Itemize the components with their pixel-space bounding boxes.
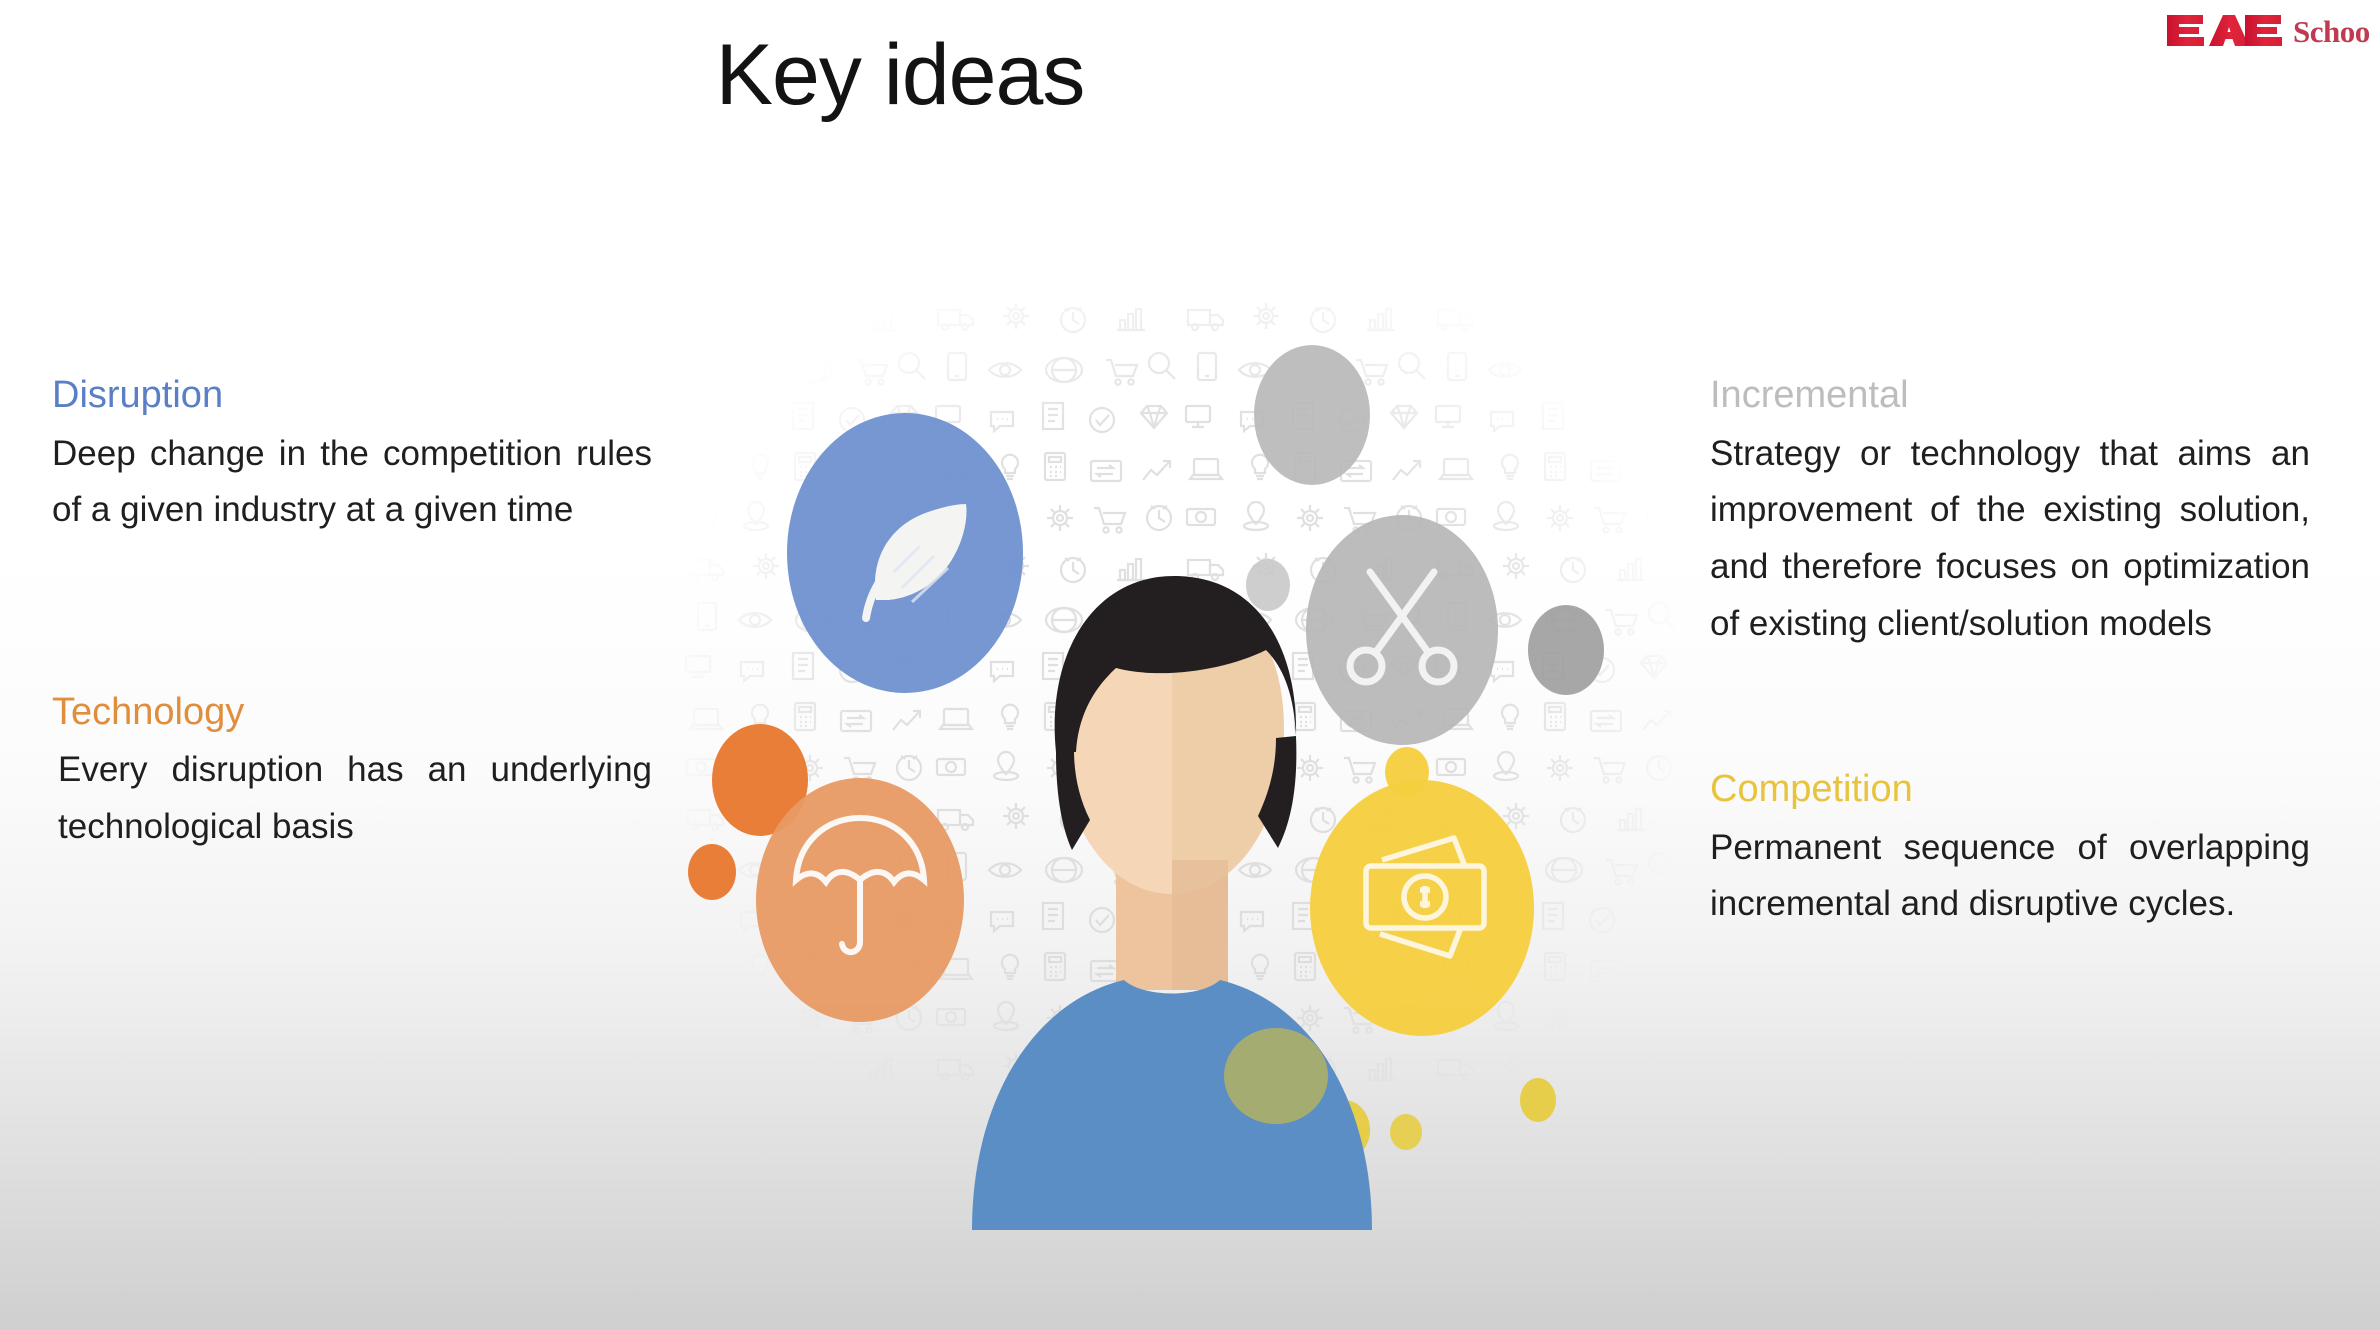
block-disruption: Disruption Deep change in the competitio…	[52, 372, 652, 539]
central-illustration	[680, 300, 1680, 1230]
block-competition: Competition Permanent sequence of overla…	[1710, 766, 2310, 933]
gray-dot-mid	[1246, 559, 1290, 611]
body-competition: Permanent sequence of overlapping increm…	[1710, 820, 2310, 933]
page-title: Key ideas	[0, 30, 1800, 120]
left-text-column: Disruption Deep change in the competitio…	[52, 372, 652, 856]
logo-wordmark: BUSINESS Schoo	[2293, 14, 2370, 50]
logo-subtext: BUSINESS	[2294, 4, 2346, 6]
block-incremental: Incremental Strategy or technology that …	[1710, 372, 2310, 652]
right-text-column: Incremental Strategy or technology that …	[1710, 372, 2310, 933]
block-technology: Technology Every disruption has an under…	[52, 689, 652, 856]
heading-disruption: Disruption	[52, 372, 652, 420]
person-neck-shade	[1172, 860, 1228, 990]
scissors-bubble	[1306, 515, 1498, 745]
brand-logo: BUSINESS Schoo	[2165, 4, 2380, 56]
yellow-dot-d	[1520, 1078, 1556, 1122]
heading-technology: Technology	[52, 689, 652, 737]
shoulder-yellow-overlay	[1224, 1028, 1328, 1124]
heading-incremental: Incremental	[1710, 372, 2310, 420]
orange-dot-small	[688, 844, 736, 900]
heading-competition: Competition	[1710, 766, 2310, 814]
logo-word-text: Schoo	[2293, 14, 2370, 49]
slide-root: BUSINESS Schoo Key ideas Disruption Deep…	[0, 0, 2380, 1330]
yellow-dot-c	[1390, 1114, 1422, 1150]
body-disruption: Deep change in the competition rules of …	[52, 426, 652, 539]
body-technology: Every disruption has an underlying techn…	[52, 742, 652, 855]
eae-logo-icon	[2165, 13, 2283, 47]
gray-bubble-small-top	[1254, 345, 1370, 485]
yellow-knob	[1385, 747, 1429, 797]
body-incremental: Strategy or technology that aims an impr…	[1710, 426, 2310, 653]
gray-dot-right	[1528, 605, 1604, 695]
money-bubble	[1310, 780, 1534, 1036]
